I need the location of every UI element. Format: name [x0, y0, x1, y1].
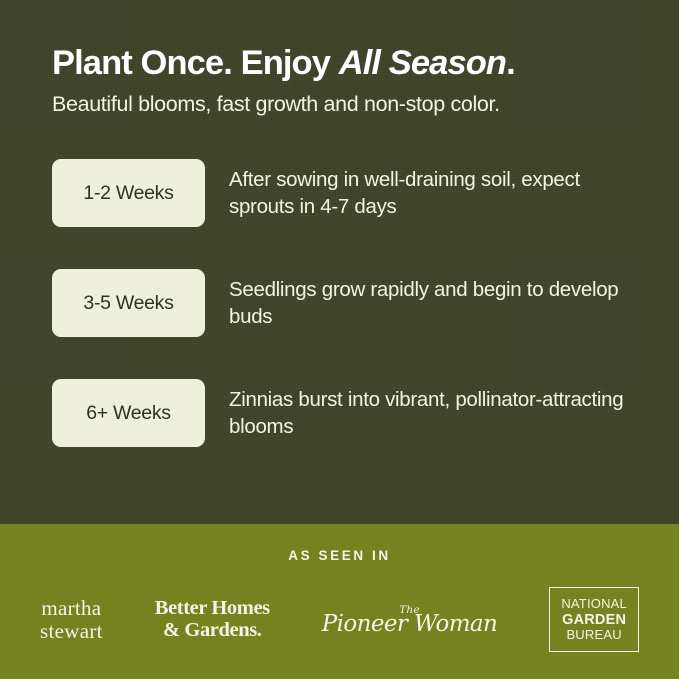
growth-timeline: 1-2 Weeks After sowing in well-draining …: [52, 159, 627, 447]
headline-text-leading: Plant Once. Enjoy: [52, 44, 339, 82]
promo-poster: Plant Once. Enjoy All Season. Beautiful …: [0, 0, 679, 679]
timeline-description: After sowing in well-draining soil, expe…: [229, 166, 627, 221]
logo-line-2: Pioneer Woman: [322, 613, 497, 636]
badge-label: 6+ Weeks: [86, 402, 171, 425]
as-seen-in-band: AS SEEN IN martha stewart Better Homes &…: [0, 524, 679, 679]
logo-line-3: BUREAU: [561, 628, 627, 643]
logo-line-2: GARDEN: [561, 612, 627, 628]
page-subtitle: Beautiful blooms, fast growth and non-st…: [52, 92, 627, 118]
logo-line-2: stewart: [40, 620, 103, 642]
badge-label: 3-5 Weeks: [83, 292, 173, 315]
logo-national-garden-bureau: NATIONAL GARDEN BUREAU: [549, 587, 639, 652]
top-panel: Plant Once. Enjoy All Season. Beautiful …: [0, 0, 679, 524]
logo-line-1: martha: [40, 597, 103, 619]
press-logo-list: martha stewart Better Homes & Gardens. T…: [0, 587, 679, 652]
headline-emphasis: All Season: [339, 44, 506, 82]
timeline-row: 6+ Weeks Zinnias burst into vibrant, pol…: [52, 379, 627, 447]
timeline-row: 3-5 Weeks Seedlings grow rapidly and beg…: [52, 269, 627, 337]
timeline-badge-6-plus-weeks: 6+ Weeks: [52, 379, 205, 447]
timeline-badge-1-2-weeks: 1-2 Weeks: [52, 159, 205, 227]
logo-the-pioneer-woman: The Pioneer Woman: [322, 603, 497, 636]
logo-line-2: & Gardens.: [155, 620, 270, 641]
timeline-badge-3-5-weeks: 3-5 Weeks: [52, 269, 205, 337]
logo-better-homes-and-gardens: Better Homes & Gardens.: [155, 598, 270, 641]
as-seen-in-title: AS SEEN IN: [288, 548, 391, 563]
page-title: Plant Once. Enjoy All Season.: [52, 44, 627, 83]
timeline-description: Seedlings grow rapidly and begin to deve…: [229, 276, 627, 331]
logo-line-1: NATIONAL: [561, 597, 627, 612]
logo-line-1: Better Homes: [155, 598, 270, 619]
headline-text-trailing: .: [506, 44, 515, 82]
timeline-description: Zinnias burst into vibrant, pollinator-a…: [229, 386, 627, 441]
logo-martha-stewart: martha stewart: [40, 597, 103, 642]
badge-label: 1-2 Weeks: [83, 182, 173, 205]
timeline-row: 1-2 Weeks After sowing in well-draining …: [52, 159, 627, 227]
